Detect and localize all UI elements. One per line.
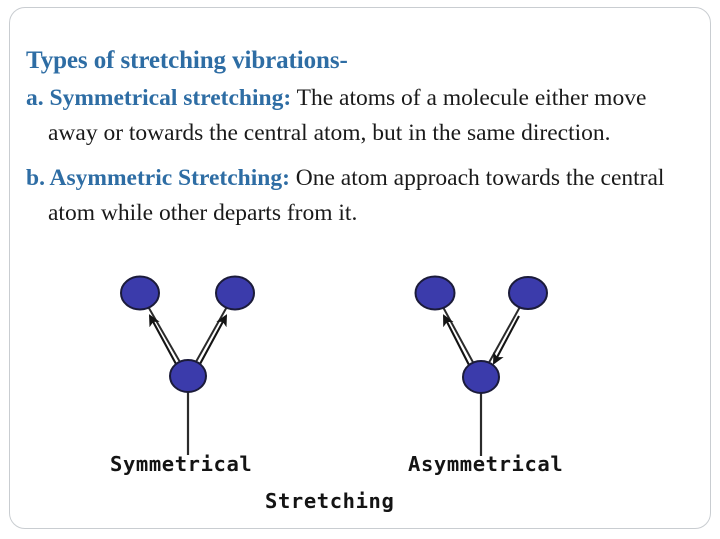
group-symmetrical-stretching: [121, 277, 254, 456]
slide-content: Types of stretching vibrations- a. Symme…: [0, 0, 720, 539]
caption-stretching: Stretching: [265, 489, 394, 513]
arrow-left-outward: [444, 316, 469, 365]
arrow-right-outward: [200, 316, 226, 364]
atom-left: [121, 277, 159, 310]
stretching-vibration-diagram: [0, 0, 720, 539]
arrow-left-outward: [150, 316, 176, 364]
atom-right: [509, 277, 547, 309]
arrow-right-inward: [494, 316, 519, 363]
atom-central: [463, 361, 499, 393]
slide-canvas: Types of stretching vibrations- a. Symme…: [0, 0, 720, 539]
group-asymmetrical-stretching: [416, 277, 548, 457]
caption-symmetrical: Symmetrical: [110, 452, 252, 476]
atom-right: [216, 277, 254, 310]
atom-central: [170, 360, 206, 392]
atom-left: [416, 277, 455, 310]
caption-asymmetrical: Asymmetrical: [408, 452, 563, 476]
